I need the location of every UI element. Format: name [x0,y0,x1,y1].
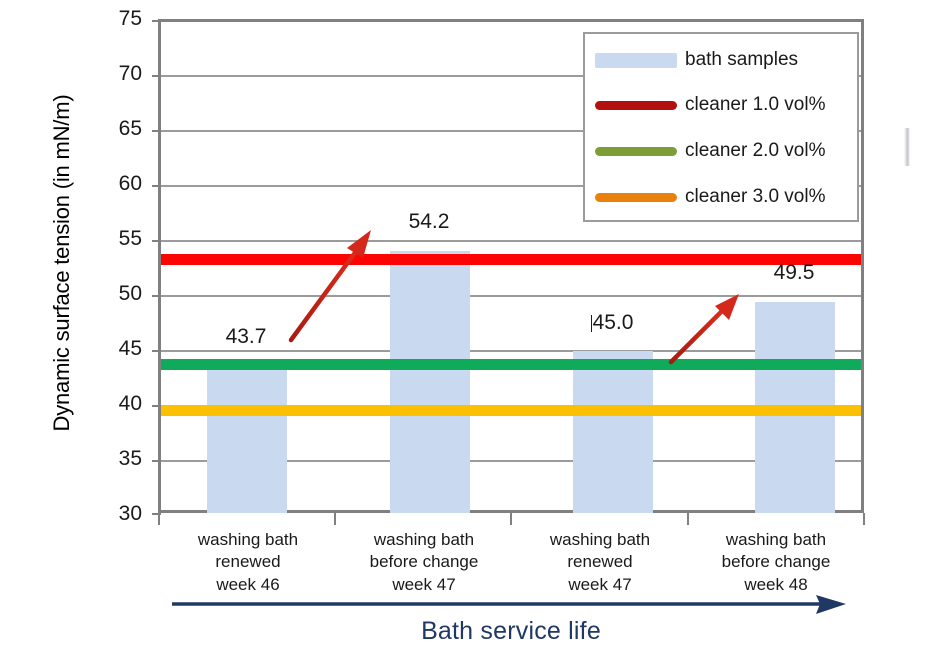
category-label-4-line1: washing bath [688,529,864,551]
bar-value-label-3: 45.0 [552,311,672,335]
category-label-4-line3: week 48 [688,574,864,596]
legend-line-cleaner-3-0-icon [595,193,677,202]
x-tick-3 [687,513,689,525]
y-tick-35 [152,460,161,462]
category-label-3: washing bath renewed week 47 [512,529,688,596]
chart-container: Dynamic surface tension (in mN/m) 75 70 … [0,0,928,656]
x-tick-1 [334,513,336,525]
legend-item-cleaner-3-0[interactable]: cleaner 3.0 vol% [595,183,825,211]
y-tick-75 [152,20,161,22]
bath-service-life-arrow-icon [170,595,846,617]
bar-bath-sample-3[interactable] [573,351,653,513]
x-tick-4 [863,513,865,525]
x-axis-title: Bath service life [158,617,864,646]
trend-arrow-2-icon [661,280,761,376]
legend-swatch-bath-samples-icon [595,53,677,68]
y-tick-60 [152,185,161,187]
category-label-3-line2: renewed [512,551,688,573]
category-label-2-line2: before change [336,551,512,573]
category-label-1: washing bath renewed week 46 [160,529,336,596]
y-tick-label: 55 [96,227,142,251]
y-tick-label: 60 [96,172,142,196]
y-tick-50 [152,295,161,297]
category-label-2: washing bath before change week 47 [336,529,512,596]
legend-line-cleaner-1-0-icon [595,101,677,110]
legend-item-cleaner-1-0[interactable]: cleaner 1.0 vol% [595,91,825,119]
category-label-1-line2: renewed [160,551,336,573]
category-label-2-line3: week 47 [336,574,512,596]
bar-value-label-1: 43.7 [186,325,306,349]
value-caret-icon [591,315,592,332]
gridline-55 [161,240,861,242]
category-label-1-line3: week 46 [160,574,336,596]
scan-edge-artifact [904,128,910,166]
category-label-4: washing bath before change week 48 [688,529,864,596]
y-tick-40 [152,405,161,407]
bar-bath-sample-1[interactable] [207,367,287,513]
legend-item-cleaner-2-0[interactable]: cleaner 2.0 vol% [595,137,825,165]
y-tick-label: 70 [96,62,142,86]
y-tick-label: 45 [96,337,142,361]
category-label-3-line3: week 47 [512,574,688,596]
y-tick-70 [152,75,161,77]
y-tick-label: 40 [96,392,142,416]
y-tick-label: 65 [96,117,142,141]
y-tick-label: 50 [96,282,142,306]
y-tick-label: 30 [96,502,142,526]
bar-bath-sample-2[interactable] [390,251,470,513]
reference-line-cleaner-3-0-vol [161,405,861,416]
y-tick-45 [152,350,161,352]
legend-label-cleaner-1-0: cleaner 1.0 vol% [685,94,825,116]
y-axis-title: Dynamic surface tension (in mN/m) [49,53,75,473]
category-label-3-line1: washing bath [512,529,688,551]
x-tick-0 [158,513,160,525]
legend-line-cleaner-2-0-icon [595,147,677,156]
legend: bath samples cleaner 1.0 vol% cleaner 2.… [583,32,859,222]
legend-label-bath-samples: bath samples [685,49,798,71]
bar-value-label-2: 54.2 [369,210,489,234]
legend-item-bath-samples[interactable]: bath samples [595,46,798,74]
category-label-2-line1: washing bath [336,529,512,551]
bar-value-label-4: 49.5 [734,261,854,285]
x-tick-2 [510,513,512,525]
category-label-1-line1: washing bath [160,529,336,551]
legend-label-cleaner-3-0: cleaner 3.0 vol% [685,186,825,208]
category-label-4-line2: before change [688,551,864,573]
y-tick-65 [152,130,161,132]
bar-value-label-3-text: 45.0 [593,311,634,334]
legend-label-cleaner-2-0: cleaner 2.0 vol% [685,140,825,162]
y-tick-label: 75 [96,7,142,31]
y-tick-55 [152,240,161,242]
y-tick-label: 35 [96,447,142,471]
